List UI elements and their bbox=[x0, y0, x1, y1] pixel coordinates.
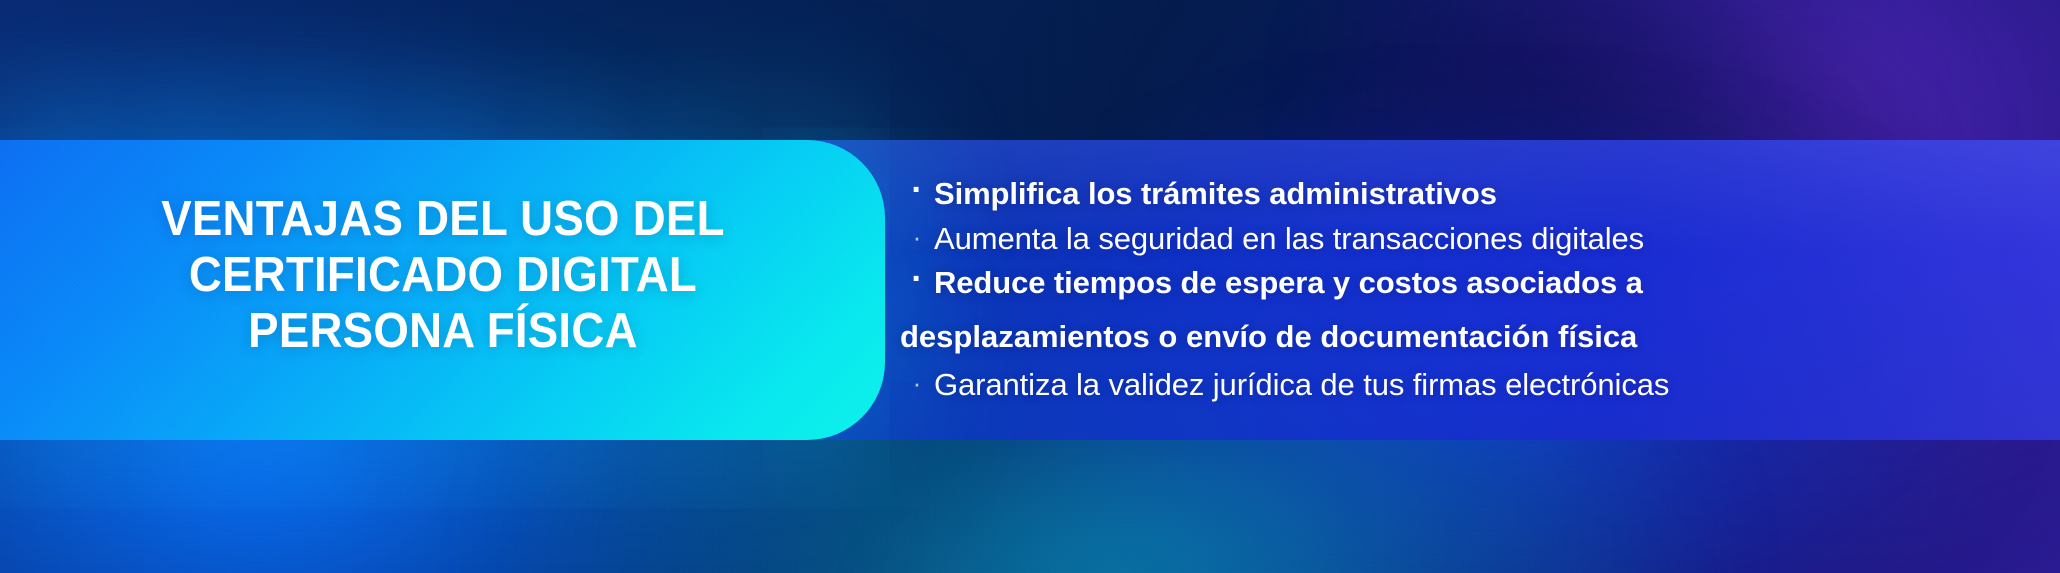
bullet-dot-icon: · bbox=[900, 173, 934, 207]
title-line-1: VENTAJAS DEL USO DEL bbox=[161, 192, 724, 248]
promo-banner: VENTAJAS DEL USO DEL CERTIFICADO DIGITAL… bbox=[0, 0, 2060, 573]
page-title: VENTAJAS DEL USO DEL CERTIFICADO DIGITAL… bbox=[124, 192, 762, 360]
list-item-label-continued: desplazamientos o envío de documentación… bbox=[900, 317, 2020, 357]
list-item-label: Simplifica los trámites administrativos bbox=[934, 174, 2020, 214]
list-item: · Reduce tiempos de espera y costos asoc… bbox=[900, 263, 2020, 303]
list-item-label: Reduce tiempos de espera y costos asocia… bbox=[934, 263, 2020, 303]
bullet-dot-icon: · bbox=[900, 224, 934, 250]
list-item: · Aumenta la seguridad en las transaccio… bbox=[900, 219, 2020, 259]
list-item-label: Garantiza la validez jurídica de tus fir… bbox=[934, 365, 2020, 405]
list-item-label: Aumenta la seguridad en las transaccione… bbox=[934, 219, 2020, 259]
bullet-dot-icon: · bbox=[900, 262, 934, 296]
list-item: · Simplifica los trámites administrativo… bbox=[900, 174, 2020, 214]
title-line-2: CERTIFICADO DIGITAL bbox=[161, 248, 724, 304]
list-item-continuation: desplazamientos o envío de documentación… bbox=[900, 317, 2020, 357]
bullet-dot-icon: · bbox=[900, 370, 934, 396]
title-panel: VENTAJAS DEL USO DEL CERTIFICADO DIGITAL… bbox=[0, 140, 885, 440]
title-line-3: PERSONA FÍSICA bbox=[161, 304, 724, 360]
benefits-list: · Simplifica los trámites administrativo… bbox=[900, 140, 2060, 440]
list-item: · Garantiza la validez jurídica de tus f… bbox=[900, 365, 2020, 405]
